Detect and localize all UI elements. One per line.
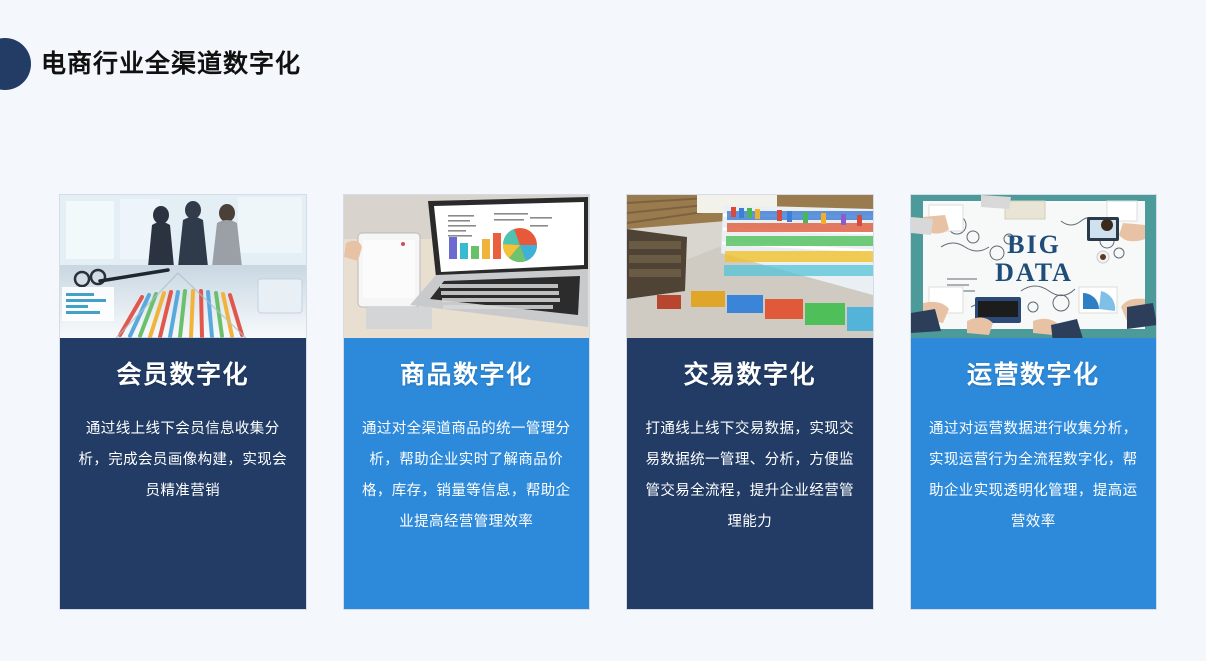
supermarket-shelves-photo bbox=[627, 195, 873, 338]
big-data-team-table-photo: BIG DATA bbox=[911, 195, 1157, 338]
card-operations-digitalization[interactable]: BIG DATA bbox=[911, 195, 1157, 609]
card-title: 会员数字化 bbox=[78, 358, 288, 392]
laptop-data-charts-photo bbox=[344, 195, 590, 338]
page-header: 电商行业全渠道数字化 bbox=[0, 0, 1206, 128]
card-body: 商品数字化 通过对全渠道商品的统一管理分析，帮助企业实时了解商品价格，库存，销量… bbox=[344, 338, 590, 609]
card-body: 会员数字化 通过线上线下会员信息收集分析，完成会员画像构建，实现会员精准营销 bbox=[60, 338, 306, 609]
card-title: 商品数字化 bbox=[362, 358, 572, 392]
card-description: 通过对运营数据进行收集分析，实现运营行为全流程数字化，帮助企业实现透明化管理，提… bbox=[929, 414, 1139, 538]
header-bullet-icon bbox=[0, 38, 31, 90]
card-body: 运营数字化 通过对运营数据进行收集分析，实现运营行为全流程数字化，帮助企业实现透… bbox=[911, 338, 1157, 609]
card-product-digitalization[interactable]: 商品数字化 通过对全渠道商品的统一管理分析，帮助企业实时了解商品价格，库存，销量… bbox=[344, 195, 590, 609]
card-description: 打通线上线下交易数据，实现交易数据统一管理、分析，方便监管交易全流程，提升企业经… bbox=[645, 414, 855, 538]
business-people-meeting-with-charts-photo bbox=[60, 195, 306, 338]
card-member-digitalization[interactable]: 会员数字化 通过线上线下会员信息收集分析，完成会员画像构建，实现会员精准营销 bbox=[60, 195, 306, 609]
card-description: 通过对全渠道商品的统一管理分析，帮助企业实时了解商品价格，库存，销量等信息，帮助… bbox=[362, 414, 572, 538]
card-body: 交易数字化 打通线上线下交易数据，实现交易数据统一管理、分析，方便监管交易全流程… bbox=[627, 338, 873, 609]
digitalization-card-row: 会员数字化 通过线上线下会员信息收集分析，完成会员画像构建，实现会员精准营销 bbox=[60, 195, 1156, 609]
card-title: 交易数字化 bbox=[645, 358, 855, 392]
svg-text:BIG: BIG bbox=[1007, 230, 1061, 259]
page-title: 电商行业全渠道数字化 bbox=[41, 48, 301, 80]
svg-text:DATA: DATA bbox=[995, 258, 1073, 287]
card-description: 通过线上线下会员信息收集分析，完成会员画像构建，实现会员精准营销 bbox=[78, 414, 288, 507]
card-title: 运营数字化 bbox=[929, 358, 1139, 392]
card-transaction-digitalization[interactable]: 交易数字化 打通线上线下交易数据，实现交易数据统一管理、分析，方便监管交易全流程… bbox=[627, 195, 873, 609]
